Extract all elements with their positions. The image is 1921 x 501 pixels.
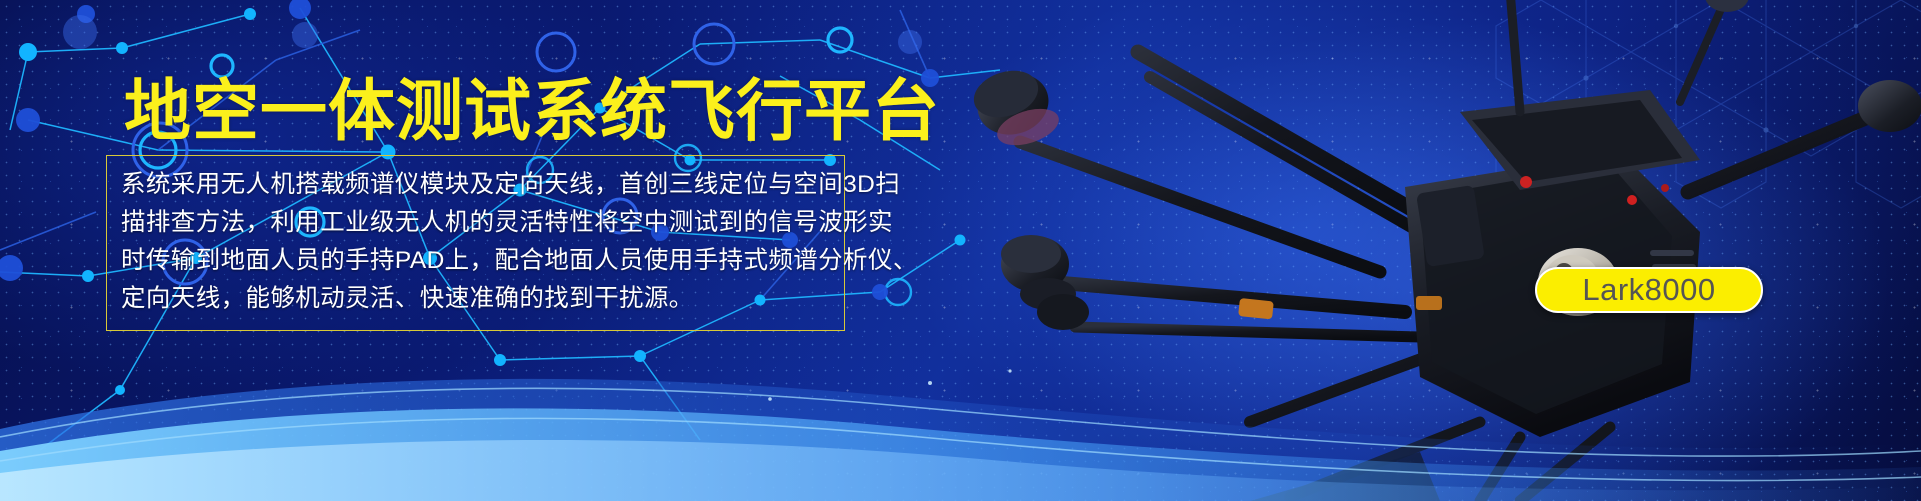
product-badge: Lark8000 <box>1535 267 1763 313</box>
description-box: 系统采用无人机搭载频谱仪模块及定向天线，首创三线定位与空间3D扫 描排查方法，利… <box>106 155 845 331</box>
bottom-wave-graphic <box>0 311 1921 501</box>
description-line: 系统采用无人机搭载频谱仪模块及定向天线，首创三线定位与空间3D扫 <box>121 166 830 204</box>
description-line: 描排查方法，利用工业级无人机的灵活特性将空中测试到的信号波形实 <box>121 204 830 242</box>
page-title: 地空一体测试系统飞行平台 <box>124 78 940 145</box>
description-line: 时传输到地面人员的手持PAD上，配合地面人员使用手持式频谱分析仪、 <box>121 242 830 280</box>
product-badge-label: Lark8000 <box>1582 272 1715 308</box>
description-line: 定向天线，能够机动灵活、快速准确的找到干扰源。 <box>121 280 830 318</box>
promo-banner: 地空一体测试系统飞行平台 系统采用无人机搭载频谱仪模块及定向天线，首创三线定位与… <box>0 0 1921 501</box>
